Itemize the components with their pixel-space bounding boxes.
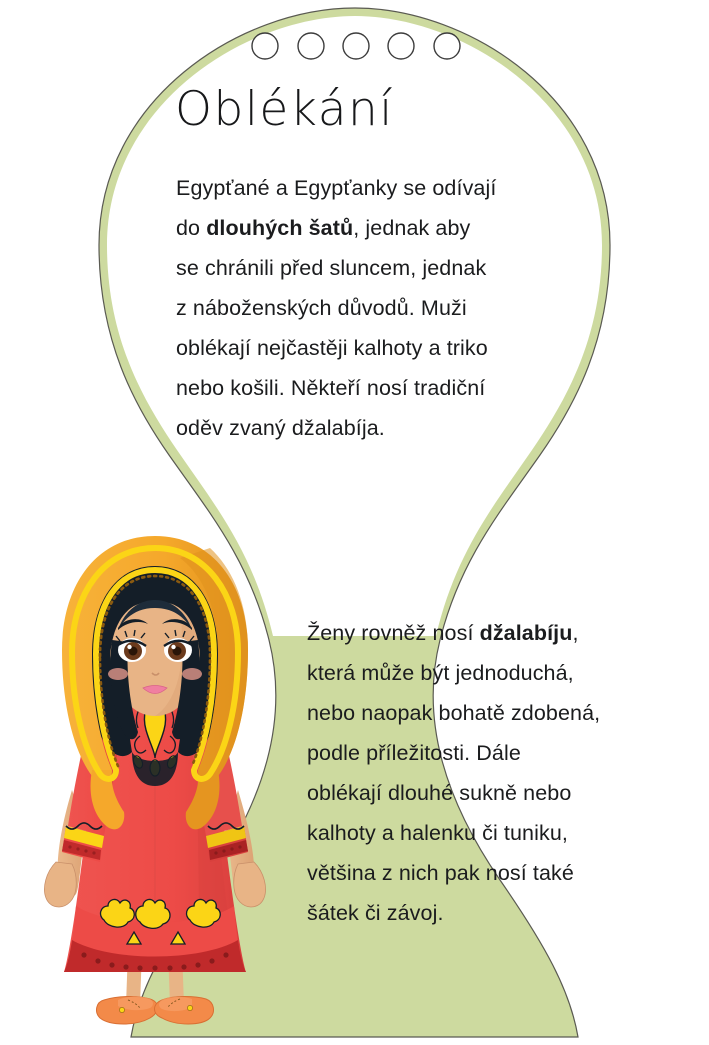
binder-hole xyxy=(388,33,414,59)
para-top-line-4: z náboženských důvodů. Muži xyxy=(176,296,467,320)
page-title: Oblékání xyxy=(175,86,394,133)
binder-hole xyxy=(434,33,460,59)
para-top-line-3: se chránili před sluncem, jednak xyxy=(176,256,486,280)
para-top-line-2: do dlouhých šatů, jednak aby xyxy=(176,216,470,240)
para-bottom-line-2: která může být jednoduchá, xyxy=(307,661,574,685)
para-bottom-line-6: kalhoty a halenku či tuniku, xyxy=(307,821,568,845)
para-bottom-line-7: většina z nich pak nosí také xyxy=(307,861,574,885)
paragraph-top: Egypťané a Egypťanky se odívajído dlouhý… xyxy=(176,168,566,448)
binder-hole xyxy=(252,33,278,59)
doll-shaped-page: Oblékání Egypťané a Egypťanky se odívají… xyxy=(0,0,709,1045)
binder-hole xyxy=(343,33,369,59)
para-top-line-5: oblékají nejčastěji kalhoty a triko xyxy=(176,336,488,360)
para-top-line-6: nebo košili. Někteří nosí tradiční xyxy=(176,376,485,400)
paragraph-bottom: Ženy rovněž nosí džalabíju,která může bý… xyxy=(307,613,663,933)
para-bottom-line-8: šátek či závoj. xyxy=(307,901,444,925)
para-top-line-1: Egypťané a Egypťanky se odívají xyxy=(176,176,496,200)
binder-hole xyxy=(298,33,324,59)
left-blush xyxy=(108,668,128,680)
illustration-egyptian-woman xyxy=(44,536,265,1024)
right-blush xyxy=(182,668,202,680)
para-bottom-line-1: Ženy rovněž nosí džalabíju, xyxy=(307,621,579,645)
para-bottom-line-5: oblékají dlouhé sukně nebo xyxy=(307,781,571,805)
para-bottom-line-4: podle příležitosti. Dále xyxy=(307,741,521,765)
para-top-line-7: oděv zvaný džalabíja. xyxy=(176,416,385,440)
para-bottom-line-3: nebo naopak bohatě zdobená, xyxy=(307,701,600,725)
left-hand xyxy=(44,862,76,907)
